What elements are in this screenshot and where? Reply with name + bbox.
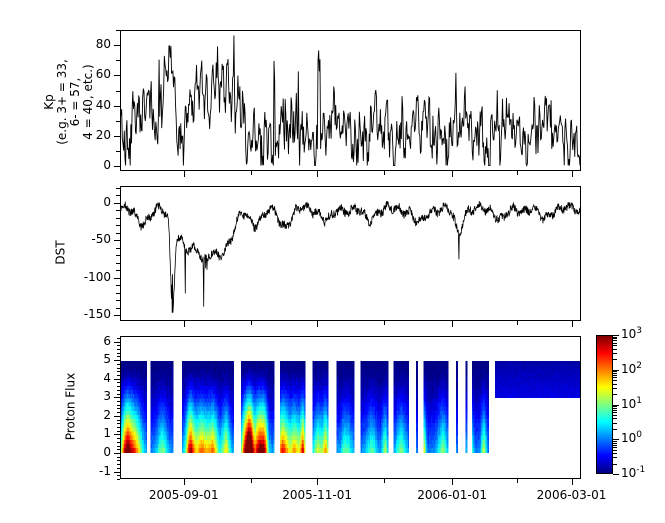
axis-tick [116,91,120,92]
axis-tick [114,240,120,241]
axis-tick [251,321,252,325]
axis-tick [117,438,120,439]
axis-tick [116,225,120,226]
axis-tick [613,464,617,465]
y-tick-label: -1 [99,464,111,478]
x-tick-label: 2006-01-01 [402,488,502,502]
axis-tick [117,468,120,469]
axis-tick [117,368,120,369]
proton-flux-axis-label-line-1: Proton Flux [65,357,78,457]
axis-tick [572,479,573,485]
axis-tick [114,166,120,167]
axis-tick [117,375,120,376]
axis-tick [613,418,617,419]
kp-axis-label: Kp (e.g. 3+ = 33, 6- = 57, 4 = 40, etc.) [43,27,95,177]
axis-tick [613,345,617,346]
axis-tick [117,442,120,443]
axis-tick [114,106,120,107]
axis-tick [613,408,617,409]
axis-tick [452,321,453,327]
axis-tick [613,343,617,344]
axis-tick [117,382,120,383]
axis-tick [116,248,120,249]
axis-tick [613,410,617,411]
axis-tick [613,474,619,475]
panel-kp [120,30,581,171]
axis-tick [613,371,617,372]
proton-flux-axis-label: Proton Flux [65,357,78,457]
dst-axis-label: DST [55,213,68,293]
axis-tick [613,337,617,338]
x-tick-label: 2006-03-01 [522,488,622,502]
axis-tick [117,427,120,428]
axis-tick [114,45,120,46]
colorbar-tick-label: 102 [621,361,642,376]
axis-tick [613,453,617,454]
axis-tick [184,321,185,327]
axis-tick [452,479,453,485]
axis-tick [317,171,318,177]
axis-tick [117,364,120,365]
y-tick-label: 3 [103,389,111,403]
axis-tick [116,195,120,196]
proton-flux-spectrogram [121,337,580,478]
axis-tick [613,429,617,430]
axis-tick [452,171,453,177]
axis-tick [116,30,120,31]
kp-series-path [121,35,580,165]
kp-axis-label-line-4: 4 = 40, etc.) [82,27,95,177]
axis-tick [117,431,120,432]
axis-tick [613,443,617,444]
y-tick-label: 0 [103,195,111,209]
dst-axis-label-line-1: DST [55,213,68,293]
axis-tick [114,136,120,137]
axis-tick [117,386,120,387]
colorbar-tick-exponent: 1 [636,396,642,406]
axis-tick [384,321,385,325]
colorbar-tick-exponent: 3 [636,326,642,336]
axis-tick [116,293,120,294]
axis-tick [572,171,573,177]
axis-tick [613,384,617,385]
axis-tick [117,394,120,395]
axis-tick [613,353,617,354]
axis-tick [251,479,252,483]
x-tick-label: 2005-09-01 [134,488,234,502]
y-tick-label: 5 [103,352,111,366]
axis-tick [613,340,617,341]
x-tick-label: 2005-11-01 [267,488,367,502]
axis-tick [117,356,120,357]
axis-tick [114,360,120,361]
axis-tick [117,457,120,458]
axis-tick [114,203,120,204]
axis-tick [117,479,120,480]
axis-tick [613,338,617,339]
axis-tick [114,379,120,380]
axis-tick [572,321,573,327]
y-tick-label: 6 [103,334,111,348]
axis-tick [116,270,120,271]
axis-tick [117,464,120,465]
axis-tick [117,345,120,346]
colorbar-tick-label: 100 [621,430,642,445]
axis-tick [114,453,120,454]
axis-tick [613,380,617,381]
dst-series-path [121,201,580,313]
axis-tick [116,121,120,122]
axis-tick [517,321,518,325]
axis-tick [114,75,120,76]
y-tick-label: 60 [96,67,111,81]
axis-tick [613,447,617,448]
axis-tick [384,171,385,175]
axis-tick [116,300,120,301]
axis-tick [117,371,120,372]
axis-tick [613,415,617,416]
axis-tick [117,405,120,406]
axis-tick [114,397,120,398]
axis-tick [116,308,120,309]
axis-tick [116,285,120,286]
dst-trace [121,187,580,320]
axis-tick [613,441,617,442]
axis-tick [116,60,120,61]
colorbar-tick-label: 10-1 [621,465,645,480]
axis-tick [114,315,120,316]
y-tick-label: -100 [84,270,111,284]
axis-tick [117,390,120,391]
y-tick-label: 0 [103,445,111,459]
colorbar-tick-exponent: 0 [636,430,642,440]
y-tick-label: 20 [96,128,111,142]
colorbar-tick-base: 10 [621,431,636,445]
axis-tick [117,446,120,447]
axis-tick [613,406,617,407]
axis-tick [613,457,617,458]
colorbar-tick-exponent: 2 [636,361,642,371]
colorbar-tick-base: 10 [621,397,636,411]
axis-tick [613,394,617,395]
y-tick-label: 0 [103,158,111,172]
axis-tick [613,375,617,376]
y-tick-label: 4 [103,371,111,385]
axis-tick [117,412,120,413]
axis-tick [613,439,619,440]
axis-tick [613,450,617,451]
axis-tick [613,373,617,374]
axis-tick [613,423,617,424]
axis-tick [116,233,120,234]
colorbar-tick-exponent: -1 [636,465,645,475]
kp-trace [121,31,580,170]
y-tick-label: -50 [91,232,111,246]
axis-tick [117,349,120,350]
axis-tick [117,475,120,476]
axis-tick [116,210,120,211]
axis-tick [613,335,619,336]
colorbar [596,335,613,474]
colorbar-tick-base: 10 [621,362,636,376]
axis-tick [114,416,120,417]
axis-tick [114,434,120,435]
axis-tick [613,359,617,360]
axis-tick [117,338,120,339]
axis-tick [251,171,252,175]
axis-tick [613,388,617,389]
axis-tick [117,401,120,402]
axis-tick [517,171,518,175]
axis-tick [116,188,120,189]
axis-tick [117,449,120,450]
axis-tick [114,342,120,343]
colorbar-tick-label: 101 [621,396,642,411]
y-tick-label: 40 [96,98,111,112]
axis-tick [184,479,185,485]
axis-tick [116,218,120,219]
axis-tick [117,408,120,409]
panel-proton-flux [120,336,581,479]
axis-tick [117,420,120,421]
axis-tick [184,171,185,177]
y-tick-label: -150 [84,307,111,321]
axis-tick [517,479,518,483]
axis-tick [613,412,617,413]
axis-tick [613,377,617,378]
axis-tick [114,278,120,279]
colorbar-tick-base: 10 [621,327,636,341]
colorbar-tick-base: 10 [621,466,636,480]
axis-tick [613,445,617,446]
axis-tick [117,353,120,354]
panel-dst [120,186,581,321]
axis-tick [116,151,120,152]
axis-tick [117,423,120,424]
y-tick-label: 1 [103,426,111,440]
axis-tick [116,255,120,256]
y-tick-label: 2 [103,408,111,422]
axis-tick [317,321,318,327]
spectrogram-stripes [121,361,580,453]
axis-tick [114,472,120,473]
axis-tick [384,479,385,483]
y-tick-label: 80 [96,37,111,51]
figure-root: Kp (e.g. 3+ = 33, 6- = 57, 4 = 40, etc.)… [0,0,665,523]
axis-tick [317,479,318,485]
axis-tick [613,349,617,350]
colorbar-tick-label: 103 [621,326,642,341]
axis-tick [116,263,120,264]
axis-tick [117,460,120,461]
